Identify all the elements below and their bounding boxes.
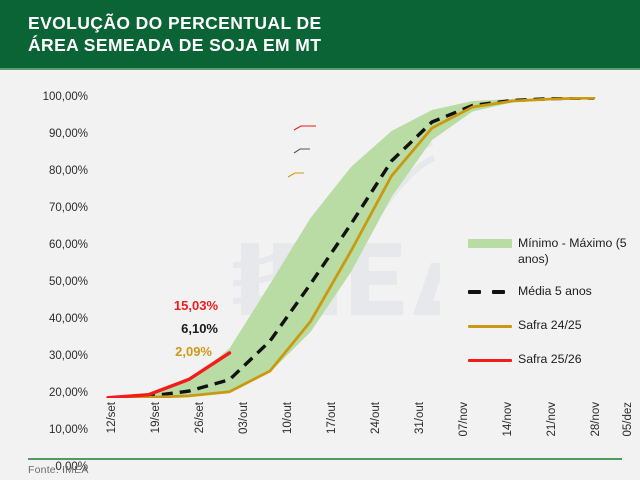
y-tick-label: 90,00%: [49, 128, 88, 140]
chart-canvas: 100,00% 90,00% 80,00% 70,00% 60,00% 50,0…: [0, 70, 640, 450]
x-tick-label: 28/nov: [590, 402, 602, 437]
x-tick-label: 31/out: [414, 402, 426, 434]
source-note: Fonte: IMEA: [28, 464, 89, 476]
x-tick-label: 24/out: [370, 402, 382, 434]
legend-label: Safra 25/26: [518, 351, 638, 367]
x-tick-label: 03/out: [238, 402, 250, 434]
legend-label: Mínimo - Máximo (5 anos): [518, 235, 638, 267]
x-axis-labels: 12/set 19/set 26/set 03/out 10/out 17/ou…: [98, 402, 638, 480]
dashed-line-swatch-icon: [468, 290, 512, 294]
page-header: EVOLUÇÃO DO PERCENTUAL DE ÁREA SEMEADA D…: [0, 0, 640, 68]
leader-line-safra-25-26: [294, 126, 316, 130]
legend-label: Safra 24/25: [518, 317, 638, 333]
legend-item-safra-24-25[interactable]: Safra 24/25: [466, 317, 638, 337]
x-tick-label: 07/nov: [458, 402, 470, 437]
legend-item-safra-25-26[interactable]: Safra 25/26: [466, 351, 638, 371]
label-safra-24-25: 2,09%: [161, 344, 212, 359]
x-tick-label: 12/set: [106, 402, 118, 433]
band-swatch-icon: [468, 239, 512, 248]
page-title-line-1: EVOLUÇÃO DO PERCENTUAL DE: [28, 12, 640, 34]
legend-item-media-5-anos[interactable]: Média 5 anos: [466, 283, 638, 303]
x-tick-label: 05/dez: [622, 402, 634, 437]
y-tick-label: 70,00%: [49, 202, 88, 214]
line-swatch-icon: [468, 325, 512, 328]
footer-divider: [28, 458, 622, 460]
x-tick-label: 17/out: [326, 402, 338, 434]
leader-line-safra-24-25: [288, 173, 304, 177]
y-tick-label: 10,00%: [49, 424, 88, 436]
leader-line-media-5-anos: [294, 149, 310, 153]
y-tick-label: 100,00%: [43, 91, 88, 103]
x-tick-label: 21/nov: [546, 402, 558, 437]
y-tick-label: 50,00%: [49, 276, 88, 288]
y-tick-label: 30,00%: [49, 350, 88, 362]
x-tick-label: 26/set: [194, 402, 206, 433]
legend-item-min-max[interactable]: Mínimo - Máximo (5 anos): [466, 235, 638, 267]
label-media-5-anos: 6,10%: [167, 321, 218, 336]
label-safra-25-26: 15,03%: [162, 298, 218, 313]
chart-legend: Mínimo - Máximo (5 anos) Média 5 anos Sa…: [466, 235, 638, 385]
y-tick-label: 40,00%: [49, 313, 88, 325]
x-tick-label: 10/out: [282, 402, 294, 434]
line-swatch-icon: [468, 359, 512, 362]
legend-label: Média 5 anos: [518, 283, 638, 299]
y-tick-label: 20,00%: [49, 387, 88, 399]
chart-page: EVOLUÇÃO DO PERCENTUAL DE ÁREA SEMEADA D…: [0, 0, 640, 480]
x-tick-label: 19/set: [150, 402, 162, 433]
y-axis-labels: 100,00% 90,00% 80,00% 70,00% 60,00% 50,0…: [0, 70, 94, 410]
y-tick-label: 60,00%: [49, 239, 88, 251]
page-title-line-2: ÁREA SEMEADA DE SOJA EM MT: [28, 34, 640, 56]
x-tick-label: 14/nov: [502, 402, 514, 437]
y-tick-label: 80,00%: [49, 165, 88, 177]
